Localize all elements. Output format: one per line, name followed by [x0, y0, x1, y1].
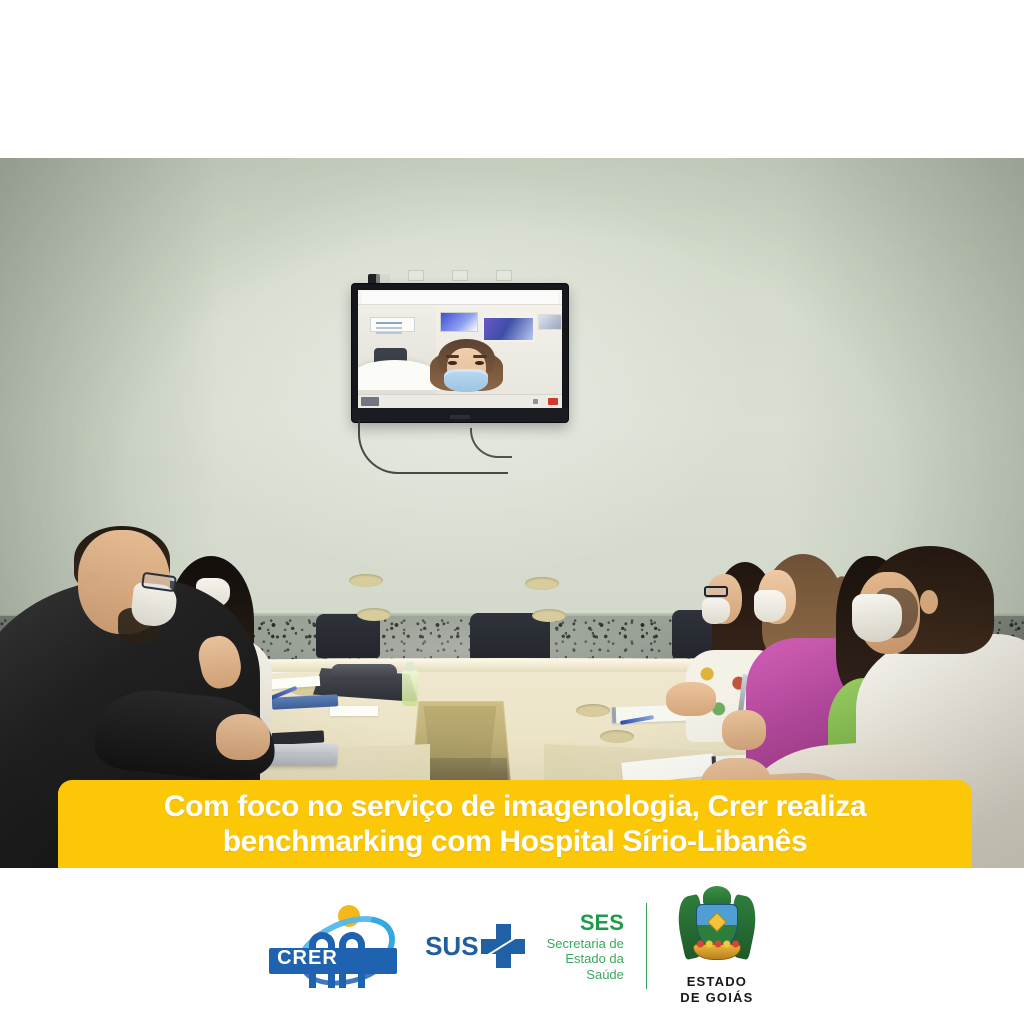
remote-noticeboard: [370, 317, 415, 331]
headline-banner: Com foco no serviço de imagenologia, Cre…: [58, 780, 972, 868]
sus-cross-icon: [481, 924, 525, 968]
sus-logo: SUS: [425, 924, 524, 968]
hand-sanitizer-bottle: [402, 670, 418, 706]
remote-participant-brow-right: [473, 355, 487, 358]
table-grommet-1: [349, 574, 383, 587]
video-call-mic-icon: [533, 399, 538, 404]
video-call-record-icon: [548, 398, 558, 405]
table-grommet-2: [357, 608, 391, 621]
woman-glasses-face-mask: [702, 598, 730, 624]
sus-cross-slash: [487, 934, 520, 956]
video-call-thumbnail: [361, 397, 379, 406]
man-left-hand-writing: [216, 714, 270, 760]
remote-participant-face-mask: [444, 369, 487, 392]
wall-plate-3: [496, 270, 512, 281]
goias-label-line-2: DE GOIÁS: [669, 990, 765, 1006]
coa-fruit-bowl: [693, 944, 741, 960]
footer-logo-bar: CRER SUS SES Secretaria de Estado da Saú…: [0, 868, 1024, 1024]
sus-wordmark: SUS: [425, 931, 478, 962]
estado-de-goias-logo: ESTADO DE GOIÁS: [669, 886, 765, 1007]
remote-participant-brow-left: [446, 355, 460, 358]
logo-divider: [646, 903, 647, 989]
wall-plate-1: [408, 270, 424, 281]
man-right-ear: [920, 590, 938, 614]
goias-coat-of-arms-icon: [679, 886, 755, 970]
woman-glasses-hand: [666, 682, 716, 716]
woman-pink-face-mask: [754, 590, 786, 622]
ses-line-2: Estado da: [547, 951, 624, 966]
tv-screen-glare: [362, 292, 558, 304]
tv-screen: [358, 290, 562, 408]
ses-logo: SES Secretaria de Estado da Saúde: [547, 910, 624, 982]
remote-participant-eye-left: [448, 361, 457, 365]
social-media-poster: Com foco no serviço de imagenologia, Cre…: [0, 0, 1024, 1024]
video-call-remote-room: [358, 305, 562, 394]
ses-line-1: Secretaria de: [547, 936, 624, 951]
wall-plate-2: [452, 270, 468, 281]
crer-arch-right-icon: [339, 932, 365, 988]
tv-brand-logo: [450, 415, 470, 419]
man-right-face-mask: [852, 594, 902, 642]
table-grommet-4: [532, 609, 566, 622]
ses-line-3: Saúde: [547, 967, 624, 982]
tv-camera-mount: [376, 274, 390, 283]
logo-group: CRER SUS SES Secretaria de Estado da Saú…: [259, 886, 765, 1007]
remote-table: [358, 360, 440, 390]
woman-pink-hand: [722, 710, 766, 750]
paper-left-2: [330, 706, 378, 716]
meeting-photo: [0, 158, 1024, 868]
remote-poster-3: [538, 314, 562, 330]
table-grommet-6: [576, 704, 610, 717]
crer-wordmark: CRER: [277, 947, 338, 970]
table-grommet-3: [525, 577, 559, 590]
crer-logo: CRER: [259, 900, 407, 992]
ses-acronym: SES: [547, 910, 624, 936]
man-left-ear: [84, 572, 100, 594]
wall-mounted-television: [352, 284, 568, 422]
headline-text: Com foco no serviço de imagenologia, Cre…: [58, 789, 972, 860]
video-call-control-bar: [358, 394, 562, 408]
conference-speakerphone-top: [331, 664, 397, 680]
woman-glasses-eyeglasses: [704, 586, 728, 597]
remote-participant-eye-right: [475, 361, 484, 365]
goias-label-line-1: ESTADO: [669, 974, 765, 990]
table-grommet-7: [600, 730, 634, 743]
remote-poster-1: [440, 312, 479, 332]
remote-participant: [438, 339, 495, 394]
